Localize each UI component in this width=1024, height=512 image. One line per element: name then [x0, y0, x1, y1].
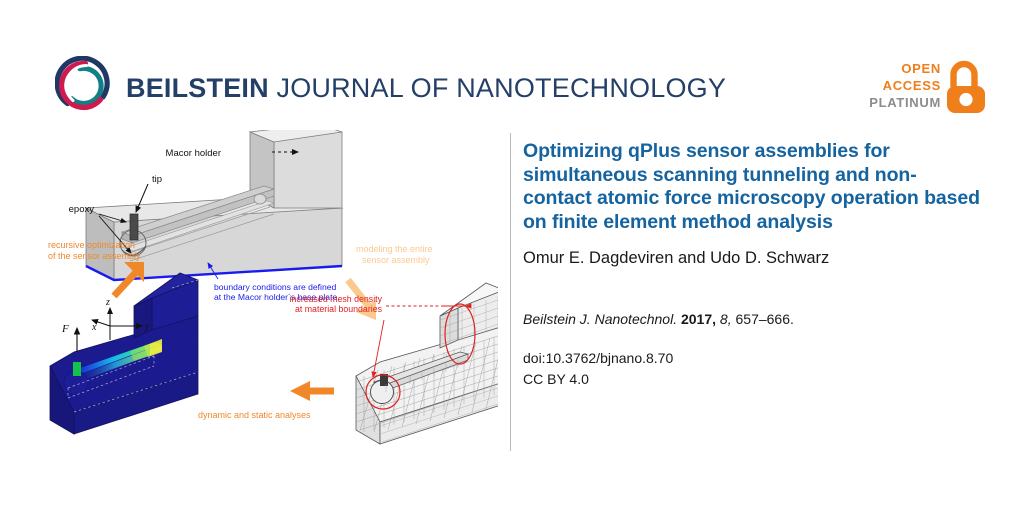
open-lock-icon	[943, 57, 989, 115]
label-recursive-line2: of the sensor assembly	[48, 251, 141, 261]
label-modeling-line1: modeling the entire	[356, 244, 433, 254]
force-label-F: F	[61, 323, 69, 335]
open-access-badge: OPEN ACCESS PLATINUM	[868, 57, 993, 119]
label-analyses: dynamic and static analyses	[198, 410, 311, 420]
axis-label-y: y	[144, 321, 150, 332]
label-boundary-conditions-line1: boundary conditions are defined	[214, 282, 337, 292]
label-epoxy: epoxy	[69, 204, 95, 215]
wordmark-beilstein: BEILSTEIN	[126, 73, 269, 103]
beilstein-spiral-logo-icon	[55, 56, 113, 114]
axis-label-z: z	[105, 297, 110, 308]
label-modeling-line2: sensor assembly	[362, 255, 430, 265]
label-mesh-line2: at material boundaries	[295, 304, 383, 314]
label-mesh-line1: increased mesh density	[290, 294, 383, 304]
journal-wordmark: BEILSTEIN JOURNAL OF NANOTECHNOLOGY	[126, 72, 726, 105]
oa-line-platinum: PLATINUM	[869, 94, 941, 111]
oa-line-access: ACCESS	[869, 77, 941, 94]
journal-header: BEILSTEIN JOURNAL OF NANOTECHNOLOGY OPEN…	[0, 0, 1024, 130]
cad-sensor-assembly-illustration: Macor holder tip epoxy boundary conditio…	[69, 130, 342, 302]
label-macor-holder: Macor holder	[166, 148, 221, 159]
citation-pages: 657–666.	[736, 311, 794, 327]
label-tip: tip	[152, 174, 162, 185]
label-recursive-line1: recursive optimization	[48, 240, 135, 250]
graphical-abstract-figure: Macor holder tip epoxy boundary conditio…	[26, 130, 498, 452]
column-divider	[510, 133, 511, 451]
article-metadata: Optimizing qPlus sensor assemblies for s…	[523, 140, 985, 389]
arrow-left-icon	[290, 381, 334, 401]
oa-line-open: OPEN	[869, 60, 941, 77]
fem-stress-plot-illustration: z y x F	[50, 273, 198, 434]
wordmark-journal-of-nanotechnology: JOURNAL OF NANOTECHNOLOGY	[269, 73, 726, 103]
citation-journal: Beilstein J. Nanotechnol.	[523, 311, 677, 327]
citation-volume: 8,	[720, 311, 732, 327]
doi-link[interactable]: doi:10.3762/bjnano.8.70	[523, 348, 985, 368]
article-cover-page: BEILSTEIN JOURNAL OF NANOTECHNOLOGY OPEN…	[0, 0, 1024, 512]
mesh-model-illustration: increased mesh density at material bound…	[290, 283, 498, 444]
page-title: Optimizing qPlus sensor assemblies for s…	[523, 140, 985, 234]
license-label: CC BY 4.0	[523, 369, 985, 389]
citation-line: Beilstein J. Nanotechnol. 2017, 8, 657–6…	[523, 309, 985, 329]
axis-label-x: x	[91, 322, 97, 333]
open-access-label: OPEN ACCESS PLATINUM	[869, 60, 941, 111]
annotation-analyses: dynamic and static analyses	[198, 381, 334, 420]
author-list: Omur E. Dagdeviren and Udo D. Schwarz	[523, 247, 985, 269]
citation-year: 2017,	[681, 311, 716, 327]
